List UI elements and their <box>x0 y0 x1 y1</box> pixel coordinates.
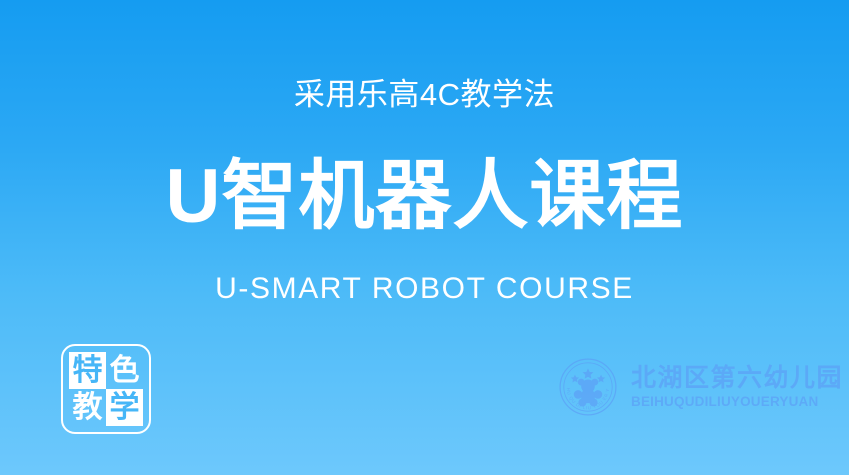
badge-grid: 特 色 教 学 <box>69 352 143 426</box>
headline-stack: 采用乐高4C教学法 U智机器人课程 U-SMART ROBOT COURSE <box>0 78 849 305</box>
subtitle-english: U-SMART ROBOT COURSE <box>0 272 849 305</box>
promo-banner: 采用乐高4C教学法 U智机器人课程 U-SMART ROBOT COURSE 特… <box>0 0 849 475</box>
badge-cell-3: 教 <box>69 389 106 426</box>
badge-cell-2: 色 <box>106 352 143 389</box>
kindergarten-circle-emblem-icon: BEI HU QU DI LIU YOU ER YUAN <box>557 356 619 418</box>
badge-cell-1: 特 <box>69 352 106 389</box>
kindergarten-name-cn: 北湖区第六幼儿园 <box>631 364 843 392</box>
kindergarten-name-pinyin: BEIHUQUDILIUYOUERYUAN <box>631 394 843 410</box>
eyebrow-text: 采用乐高4C教学法 <box>0 78 849 112</box>
kindergarten-wordmark: 北湖区第六幼儿园 BEIHUQUDILIUYOUERYUAN <box>631 364 843 410</box>
feature-teaching-badge: 特 色 教 学 <box>61 344 151 434</box>
badge-cell-4: 学 <box>106 389 143 426</box>
kindergarten-logo: BEI HU QU DI LIU YOU ER YUAN 北湖区第六幼儿园 BE… <box>557 356 843 418</box>
page-title: U智机器人课程 <box>0 156 849 238</box>
